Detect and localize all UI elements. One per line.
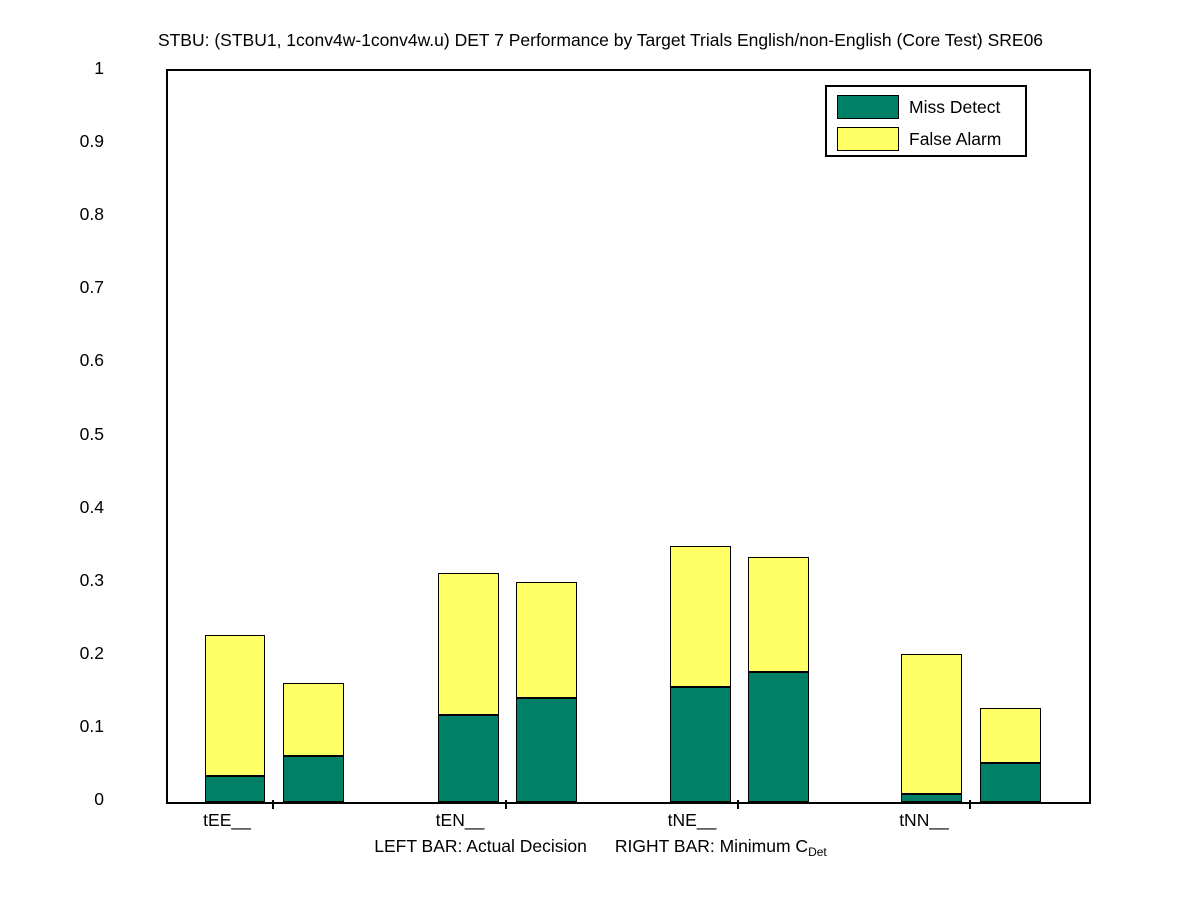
chart-title: STBU: (STBU1, 1conv4w-1conv4w.u) DET 7 P… [0, 30, 1201, 50]
x-axis-tick-label: tNN__ [824, 810, 1024, 830]
stacked-bar [516, 582, 577, 802]
bars-layer [168, 71, 1089, 802]
legend-swatch-miss-detect [837, 95, 899, 119]
stacked-bar [980, 708, 1041, 802]
y-axis-tick-label-text: 0.2 [80, 645, 104, 663]
bar-segment-miss-detect [516, 698, 577, 802]
bar-segment-false-alarm [438, 573, 499, 715]
bar-segment-false-alarm [670, 546, 731, 687]
stacked-bar [205, 635, 265, 802]
y-axis-tick-label-text: 1 [94, 60, 104, 78]
bar-segment-miss-detect [283, 756, 344, 802]
bar-segment-miss-detect [901, 794, 962, 802]
x-axis-tick-mark [737, 800, 739, 809]
bar-segment-false-alarm [205, 635, 265, 776]
bar-segment-false-alarm [283, 683, 344, 756]
x-axis-tick-label: tNE__ [592, 810, 792, 830]
y-axis-tick-label-text: 0.7 [80, 279, 104, 297]
y-axis-tick-label-text: 0.6 [80, 352, 104, 370]
legend-entry-miss-detect: Miss Detect [827, 91, 1025, 121]
y-axis-tick-label-text: 0.9 [80, 133, 104, 151]
bar-segment-false-alarm [980, 708, 1041, 764]
y-axis-tick-label-text: 0.5 [80, 426, 104, 444]
legend-label-false-alarm: False Alarm [909, 127, 1001, 151]
x-axis-tick-label: tEE__ [127, 810, 327, 830]
x-axis-label-right: RIGHT BAR: Minimum C [615, 836, 808, 856]
x-axis-label-left: LEFT BAR: Actual Decision [374, 836, 587, 856]
y-axis-tick-label-text: 0.1 [80, 718, 104, 736]
stacked-bar [438, 573, 499, 802]
legend-swatch-false-alarm [837, 127, 899, 151]
y-axis-tick-label-text: 0.4 [80, 499, 104, 517]
stacked-bar [901, 654, 962, 802]
x-axis-tick-mark [505, 800, 507, 809]
legend-label-miss-detect: Miss Detect [909, 95, 1000, 119]
y-axis-tick-label-text: 0.8 [80, 206, 104, 224]
bar-segment-miss-detect [438, 715, 499, 802]
stacked-bar [670, 546, 731, 802]
bar-segment-false-alarm [748, 557, 809, 672]
bar-segment-miss-detect [205, 776, 265, 802]
x-axis-tick-label: tEN__ [360, 810, 560, 830]
x-axis-label-right-subscript: Det [808, 845, 827, 859]
legend-entry-false-alarm: False Alarm [827, 123, 1025, 153]
y-axis-tick-label-text: 0 [94, 791, 104, 809]
x-axis-tick-mark [969, 800, 971, 809]
bar-segment-miss-detect [980, 763, 1041, 802]
legend: Miss Detect False Alarm [825, 85, 1027, 157]
bar-segment-false-alarm [901, 654, 962, 794]
figure-canvas: STBU: (STBU1, 1conv4w-1conv4w.u) DET 7 P… [0, 0, 1201, 900]
y-axis-tick-label-text: 0.3 [80, 572, 104, 590]
stacked-bar [748, 557, 809, 802]
bar-segment-miss-detect [670, 687, 731, 802]
stacked-bar [283, 683, 344, 802]
plot-area [166, 69, 1091, 804]
bar-segment-miss-detect [748, 672, 809, 802]
x-axis-tick-mark [272, 800, 274, 809]
x-axis-label: LEFT BAR: Actual DecisionRIGHT BAR: Mini… [0, 836, 1201, 863]
bar-segment-false-alarm [516, 582, 577, 698]
